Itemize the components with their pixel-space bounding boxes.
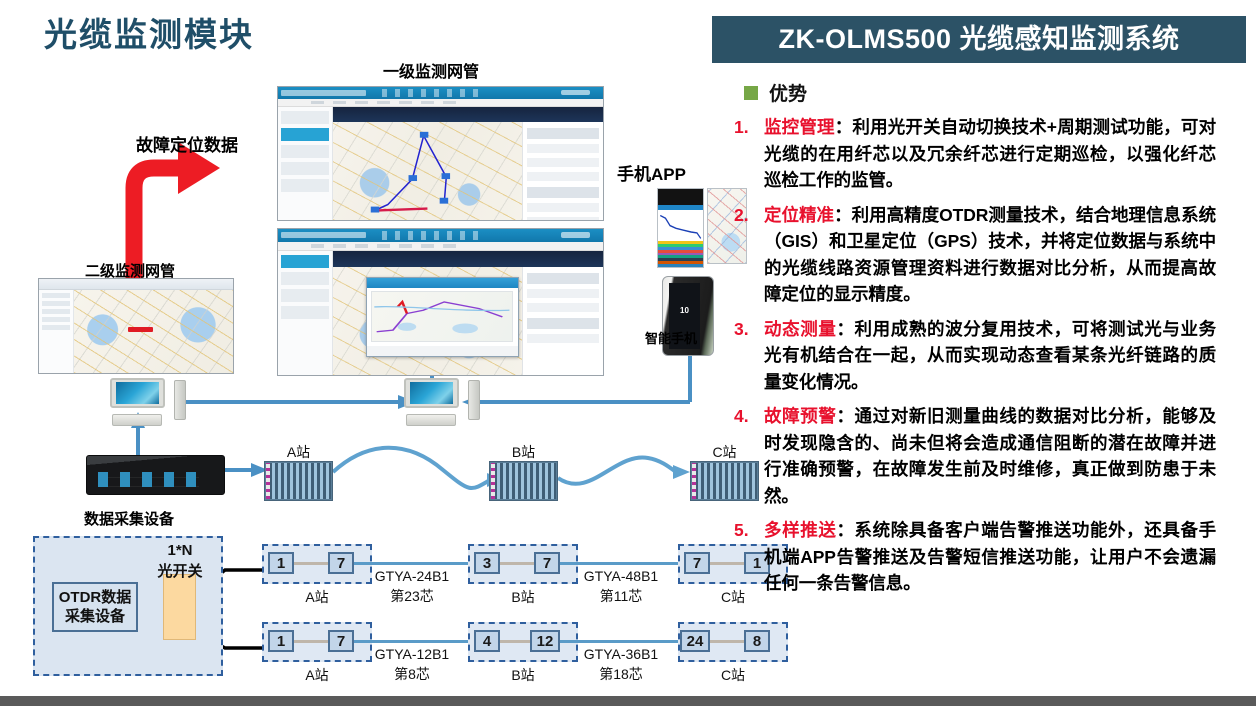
row2-station-b-label: B站 xyxy=(468,665,578,685)
detail-row xyxy=(527,217,599,221)
row1-cable-bc-model: GTYA-48B1 xyxy=(566,568,676,584)
nms2-titlebar xyxy=(278,229,603,242)
advantage-item: 2.定位精准：利用高精度OTDR测量技术，结合地理信息系统（GIS）和卫星定位（… xyxy=(734,202,1246,308)
app-header xyxy=(658,189,703,205)
square-bullet-icon xyxy=(744,86,758,100)
tree-row xyxy=(42,325,70,330)
tree-row xyxy=(42,301,70,306)
otdr-box-line1: OTDR数据 xyxy=(59,589,132,606)
advantage-keyword: 动态测量 xyxy=(764,319,836,339)
odf-label-b: B站 xyxy=(489,442,558,462)
advantage-separator: ： xyxy=(834,205,852,225)
tree-row xyxy=(42,309,70,314)
advantages-subheading: 优势 xyxy=(744,79,1246,106)
advantage-text: 多样推送：系统除具备客户端告警推送功能外，还具备手机端APP告警推送及告警短信推… xyxy=(764,517,1216,597)
row2-station-a-port-in: 1 xyxy=(268,630,294,652)
row1-cable-ab-model: GTYA-24B1 xyxy=(359,568,465,584)
map-body xyxy=(39,290,233,373)
app-otdr-chart xyxy=(658,210,703,241)
odf-label-a: A站 xyxy=(264,442,333,462)
advantage-item: 5.多样推送：系统除具备客户端告警推送功能外，还具备手机端APP告警推送及告警短… xyxy=(734,517,1246,597)
label-mobile-app: 手机APP xyxy=(617,160,686,185)
detail-row xyxy=(527,172,599,181)
advantage-separator: ： xyxy=(836,319,854,339)
row2-a-jumper xyxy=(294,640,328,643)
nms-breadcrumb xyxy=(278,99,603,107)
odf-rack-a xyxy=(264,461,333,501)
monitor xyxy=(110,378,165,408)
row2-station-b-port-out: 12 xyxy=(530,630,560,652)
fiber-link-schematic: OTDR数据 采集设备 1*N 光开关 1 7 A站 GTYA-24B1 第23… xyxy=(0,530,800,700)
nms2-sidebar xyxy=(278,251,333,375)
advantage-separator: ： xyxy=(835,117,853,137)
row2-station-a-port-out: 7 xyxy=(328,630,354,652)
sidebar-row xyxy=(281,306,329,319)
sidebar-row-selected xyxy=(281,128,329,141)
sidebar-row-selected xyxy=(281,255,329,268)
pc-tower xyxy=(468,380,480,420)
advantages-list: 1.监控管理：利用光开关自动切换技术+周期测试功能，可对光缆的在用纤芯以及冗余纤… xyxy=(734,114,1246,597)
detail-header xyxy=(527,128,599,139)
detail-row xyxy=(527,158,599,167)
product-title-banner: ZK-OLMS500 光缆感知监测系统 xyxy=(712,16,1246,63)
map-popup-dialog xyxy=(366,277,519,357)
row1-cable-ab-core: 第23芯 xyxy=(359,586,465,606)
tree-row xyxy=(42,293,70,298)
advantage-text: 动态测量：利用成熟的波分复用技术，可将测试光与业务光有机结合在一起，从而实现动态… xyxy=(764,316,1216,396)
row2-station-a-label: A站 xyxy=(262,665,372,685)
tree-row xyxy=(42,317,70,322)
row2-cable-ab-model: GTYA-12B1 xyxy=(359,646,465,662)
nms2-toolbar-icons xyxy=(382,231,480,240)
nms2-banner xyxy=(333,251,603,267)
optical-switch-bar xyxy=(163,574,196,640)
detail-row xyxy=(527,289,599,298)
nms2-user-icon xyxy=(561,232,590,238)
right-info-panel: ZK-OLMS500 光缆感知监测系统 优势 1.监控管理：利用光开关自动切换技… xyxy=(712,16,1246,688)
sidebar-row xyxy=(281,162,329,175)
nms-main xyxy=(333,107,603,220)
row2-station-b-port-in: 4 xyxy=(474,630,500,652)
sidebar-row xyxy=(281,289,329,302)
row2-b-jumper xyxy=(500,640,530,643)
keyboard xyxy=(406,414,456,426)
sidebar-row xyxy=(281,179,329,192)
nms-sidebar xyxy=(278,107,333,220)
row1-b-jumper xyxy=(500,562,534,565)
secondary-nms-map-screenshot xyxy=(38,278,234,374)
row2-station-c-port-in: 24 xyxy=(680,630,710,652)
nms2-breadcrumb xyxy=(278,242,603,251)
popup-titlebar xyxy=(367,278,518,288)
monitor xyxy=(404,378,459,408)
advantage-keyword: 监控管理 xyxy=(764,117,835,137)
nms2-detail-panel xyxy=(522,267,603,375)
row1-station-b-port-in: 3 xyxy=(474,552,500,574)
row1-station-a-port-out: 7 xyxy=(328,552,354,574)
phone-screen-number: 10 xyxy=(680,306,689,315)
primary-nms-screenshot xyxy=(277,86,604,221)
advantage-number: 4. xyxy=(734,403,764,430)
advantage-number: 3. xyxy=(734,316,764,343)
advantage-keyword: 故障预警 xyxy=(764,406,836,426)
detail-row xyxy=(527,303,599,312)
map-canvas xyxy=(74,290,233,373)
detail-row xyxy=(527,203,599,212)
detail-header xyxy=(527,318,599,329)
sidebar-row xyxy=(281,111,329,124)
row1-station-c-port-in: 7 xyxy=(684,552,710,574)
advantage-separator: ： xyxy=(836,406,854,426)
app-screenshot-curve xyxy=(657,188,704,268)
row1-cable-bc-core: 第11芯 xyxy=(566,586,676,606)
advantage-item: 1.监控管理：利用光开关自动切换技术+周期测试功能，可对光缆的在用纤芯以及冗余纤… xyxy=(734,114,1246,194)
row1-cable-bc xyxy=(560,562,680,565)
row2-cable-bc-core: 第18芯 xyxy=(566,664,676,684)
row1-station-a-port-in: 1 xyxy=(268,552,294,574)
advantage-text: 监控管理：利用光开关自动切换技术+周期测试功能，可对光缆的在用纤芯以及冗余纤芯进… xyxy=(764,114,1216,194)
nms-map xyxy=(333,122,522,220)
advantage-keyword: 多样推送 xyxy=(764,520,836,540)
row1-station-a-label: A站 xyxy=(262,587,372,607)
row1-station-b-port-out: 7 xyxy=(534,552,560,574)
label-primary-nms: 一级监测网管 xyxy=(383,58,479,82)
nms-detail-panel xyxy=(522,122,603,220)
popup-map xyxy=(371,291,513,343)
advantage-keyword: 定位精准 xyxy=(764,205,834,225)
table-row xyxy=(658,264,703,267)
workstation-right xyxy=(404,378,480,426)
detail-row xyxy=(527,144,599,153)
sidebar-row xyxy=(281,272,329,285)
optical-switch-sub: 光开关 xyxy=(147,560,213,581)
nms-banner xyxy=(333,107,603,122)
data-collector-device xyxy=(86,455,225,495)
detail-header xyxy=(527,273,599,284)
advantage-item: 4.故障预警：通过对新旧测量曲线的数据对比分析，能够及时发现隐含的、尚未但将会造… xyxy=(734,403,1246,509)
odf-rack-b xyxy=(489,461,558,501)
advantage-number: 1. xyxy=(734,114,764,141)
secondary-nms-screenshot xyxy=(277,228,604,376)
nms-toolbar-icons xyxy=(382,89,480,98)
advantage-text: 定位精准：利用高精度OTDR测量技术，结合地理信息系统（GIS）和卫星定位（GP… xyxy=(764,202,1216,308)
monitor-screen xyxy=(410,382,453,404)
popup-footer xyxy=(367,346,518,356)
row1-a-jumper xyxy=(294,562,328,565)
map-toolbar xyxy=(39,279,233,290)
detail-row xyxy=(527,334,599,343)
advantage-separator: ： xyxy=(836,520,854,540)
row2-cable-bc xyxy=(560,640,680,643)
nms-titlebar xyxy=(278,87,603,99)
nms2-logo xyxy=(281,232,366,238)
nms-user-icon xyxy=(561,90,590,95)
row2-cable-ab-core: 第8芯 xyxy=(359,664,465,684)
workstation-left xyxy=(110,378,186,426)
row1-cable-ab xyxy=(354,562,468,565)
fault-marker xyxy=(128,327,153,333)
label-fault-location-data: 故障定位数据 xyxy=(136,131,238,156)
otdr-box-line2: 采集设备 xyxy=(65,608,125,625)
row1-station-b-label: B站 xyxy=(468,587,578,607)
sidebar-row xyxy=(281,145,329,158)
nms-logo xyxy=(281,90,366,96)
advantage-text: 故障预警：通过对新旧测量曲线的数据对比分析，能够及时发现隐含的、尚未但将会造成通… xyxy=(764,403,1216,509)
label-smartphone: 智能手机 xyxy=(645,328,697,347)
keyboard xyxy=(112,414,162,426)
advantages-subheading-label: 优势 xyxy=(769,79,807,106)
pc-tower xyxy=(174,380,186,420)
optical-switch-title: 1*N xyxy=(147,542,213,559)
advantage-number: 5. xyxy=(734,517,764,544)
label-data-collector: 数据采集设备 xyxy=(84,508,174,529)
bottom-accent-bar xyxy=(0,696,1256,706)
nms-body xyxy=(278,107,603,220)
monitor-screen xyxy=(116,382,159,404)
otdr-collector-box: OTDR数据 采集设备 xyxy=(52,582,138,632)
detail-header xyxy=(527,187,599,198)
map-tree-panel xyxy=(39,290,74,373)
row2-cable-ab xyxy=(354,640,468,643)
advantage-number: 2. xyxy=(734,202,764,229)
row2-cable-bc-model: GTYA-36B1 xyxy=(566,646,676,662)
advantage-item: 3.动态测量：利用成熟的波分复用技术，可将测试光与业务光有机结合在一起，从而实现… xyxy=(734,316,1246,396)
app-event-table xyxy=(658,241,703,267)
slide-root: 光缆监测模块 xyxy=(0,0,1256,706)
